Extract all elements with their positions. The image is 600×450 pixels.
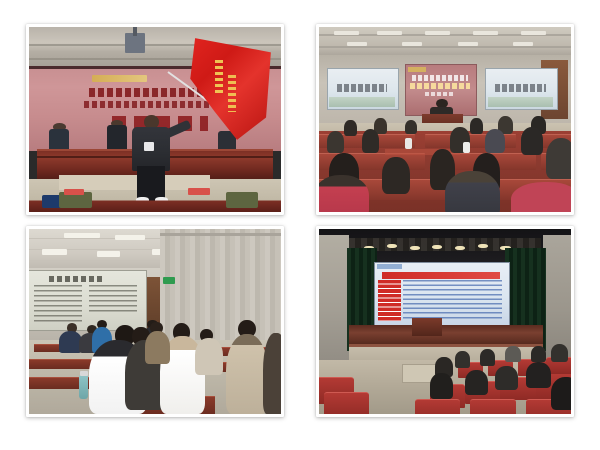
right-screen-text — [495, 84, 545, 91]
audience-member — [495, 366, 518, 390]
audience-member — [327, 131, 345, 153]
audience-member — [505, 346, 520, 363]
slide-left-column — [378, 280, 401, 321]
water-bottle — [463, 142, 471, 153]
thermos-flask — [79, 375, 88, 399]
audience-member — [511, 182, 571, 212]
stage-spotlight — [410, 246, 420, 251]
standing-student — [263, 333, 281, 414]
photo-bottom-left[interactable]: Classroom session with students standing… — [26, 226, 284, 417]
audience-member — [485, 129, 505, 153]
exit-sign-icon — [163, 277, 176, 284]
theatre-seat — [324, 392, 369, 414]
audience-member — [521, 127, 544, 155]
lectern — [412, 318, 442, 337]
audience-member — [551, 344, 569, 363]
audience-member — [526, 362, 551, 388]
photo-top-right[interactable]: Wide view of a lecture room with a speak… — [316, 24, 574, 215]
audience-member — [531, 346, 546, 363]
photo-bottom-right[interactable]: Large auditorium with an LED screen pres… — [316, 226, 574, 417]
duffel-bag-right — [226, 192, 259, 209]
name-card-right — [188, 188, 211, 195]
photo-bottom-left-image: Classroom session with students standing… — [29, 229, 281, 414]
audience-member — [551, 377, 571, 410]
audience-member — [344, 120, 357, 137]
theatre-seat — [470, 399, 515, 414]
audience-member — [465, 370, 488, 396]
standing-student — [145, 331, 170, 364]
ceiling-light — [42, 249, 67, 255]
ceiling-light — [115, 235, 145, 241]
center-screen-line-2 — [410, 83, 470, 89]
audience-member — [546, 138, 571, 179]
slide-header-band — [382, 272, 500, 279]
audience-member — [405, 120, 418, 135]
screen-text-column-right — [89, 285, 137, 315]
center-screen-line-1 — [412, 75, 467, 81]
ceiling-light — [64, 233, 99, 239]
audience-member — [480, 349, 495, 366]
water-bottle — [405, 138, 413, 149]
left-screen-text — [337, 84, 387, 91]
backdrop-logo — [92, 75, 147, 82]
audience-member — [382, 157, 410, 194]
name-badge — [144, 142, 154, 151]
slide-text-rows — [403, 280, 501, 321]
theatre-seat — [415, 399, 460, 414]
audience-member — [455, 351, 470, 368]
standing-student — [195, 338, 223, 375]
audience-member — [430, 373, 453, 399]
audience-member — [470, 118, 483, 135]
desk — [29, 359, 95, 369]
standing-student — [226, 334, 269, 414]
photo-bottom-right-image: Large auditorium with an LED screen pres… — [319, 229, 571, 414]
photo-top-right-image: Wide view of a lecture room with a speak… — [319, 27, 571, 212]
name-card-left — [64, 189, 84, 195]
photo-top-left-image: Flag-raising / opening ceremony on an au… — [29, 27, 281, 212]
audience-member — [362, 129, 380, 153]
screen-text-column-left — [34, 285, 82, 322]
ceiling-light — [97, 251, 120, 257]
audience-member — [319, 175, 369, 212]
screen-title-text — [49, 276, 104, 282]
photo-top-left[interactable]: Flag-raising / opening ceremony on an au… — [26, 24, 284, 215]
photo-collage: Flag-raising / opening ceremony on an au… — [0, 0, 600, 450]
audience-member — [445, 171, 500, 212]
